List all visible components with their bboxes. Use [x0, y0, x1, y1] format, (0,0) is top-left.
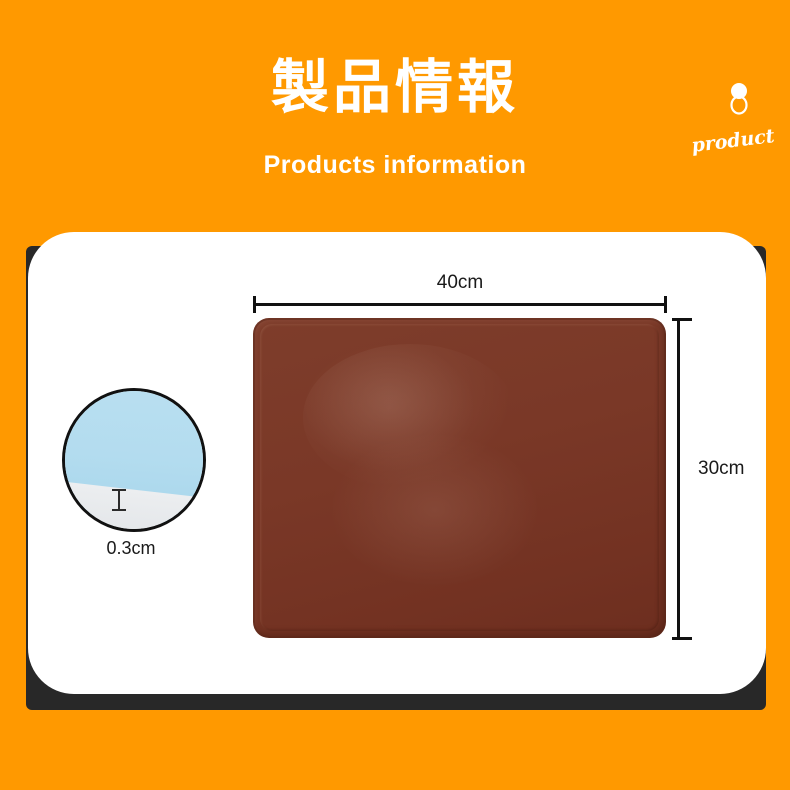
width-dimension-label: 40cm [253, 272, 667, 294]
page-subtitle-english: Products information [0, 151, 790, 180]
width-dimension-cap-right [664, 296, 667, 313]
thickness-callout-circle [62, 388, 206, 532]
caliper-stem [118, 489, 120, 511]
thickness-label: 0.3cm [48, 538, 214, 559]
caliper-icon [112, 489, 126, 511]
caliper-bar-bottom [112, 509, 126, 511]
height-dimension-line [677, 318, 680, 640]
page-header: 製品情報 Products information product [0, 0, 790, 215]
width-dimension: 40cm [253, 272, 667, 312]
product-mat [253, 318, 666, 638]
corner-ornament: product [688, 78, 778, 168]
thickness-callout: 0.3cm [62, 388, 200, 526]
width-dimension-cap-left [253, 296, 256, 313]
height-dimension-label: 30cm [698, 458, 744, 480]
page-title-japanese: 製品情報 [0, 58, 790, 119]
width-dimension-line [253, 303, 667, 306]
height-dimension-cap-bottom [672, 637, 692, 640]
script-product-text: product [687, 125, 779, 158]
height-dimension-cap-top [672, 318, 692, 321]
height-dimension: 30cm [672, 318, 772, 640]
mat-inner-rim [260, 324, 659, 631]
pin-tag-icon [728, 82, 750, 116]
